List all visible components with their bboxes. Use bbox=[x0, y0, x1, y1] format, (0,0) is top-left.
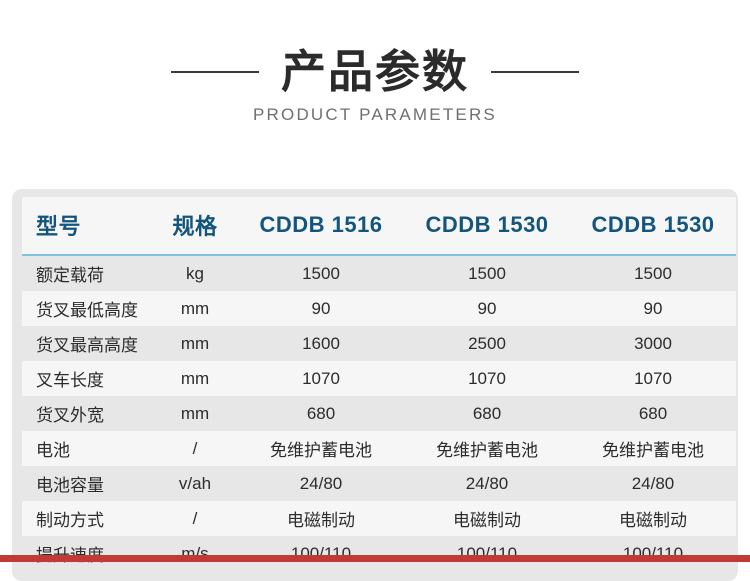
cell-parameter-name: 额定载荷 bbox=[22, 255, 152, 291]
table-body: 额定载荷kg150015001500货叉最低高度mm909090货叉最高高度mm… bbox=[22, 255, 736, 571]
cell-value-model-2: 24/80 bbox=[404, 466, 570, 501]
cell-value-model-2: 2500 bbox=[404, 326, 570, 361]
cell-parameter-name: 提升速度 bbox=[22, 536, 152, 571]
table-row: 额定载荷kg150015001500 bbox=[22, 255, 736, 291]
column-header-model-2: CDDB 1530 bbox=[404, 197, 570, 255]
cell-parameter-name: 电池容量 bbox=[22, 466, 152, 501]
cell-value-model-1: 免维护蓄电池 bbox=[238, 431, 404, 466]
cell-parameter-name: 货叉最低高度 bbox=[22, 291, 152, 326]
title-rule-left bbox=[171, 71, 259, 73]
cell-value-model-3: 3000 bbox=[570, 326, 736, 361]
cell-unit: kg bbox=[152, 255, 238, 291]
table-row: 电池容量v/ah24/8024/8024/80 bbox=[22, 466, 736, 501]
table-head: 型号 规格 CDDB 1516 CDDB 1530 CDDB 1530 bbox=[22, 197, 736, 255]
cell-value-model-2: 电磁制动 bbox=[404, 501, 570, 536]
cell-value-model-1: 电磁制动 bbox=[238, 501, 404, 536]
column-header-name: 型号 bbox=[22, 197, 152, 255]
cell-unit: m/s bbox=[152, 536, 238, 571]
cell-unit: mm bbox=[152, 326, 238, 361]
table-row: 电池/免维护蓄电池免维护蓄电池免维护蓄电池 bbox=[22, 431, 736, 466]
cell-value-model-1: 90 bbox=[238, 291, 404, 326]
page-header: 产品参数 PRODUCT PARAMETERS bbox=[0, 0, 750, 125]
parameters-table-container: 型号 规格 CDDB 1516 CDDB 1530 CDDB 1530 额定载荷… bbox=[12, 189, 738, 581]
cell-parameter-name: 制动方式 bbox=[22, 501, 152, 536]
cell-value-model-1: 1500 bbox=[238, 255, 404, 291]
cell-value-model-3: 24/80 bbox=[570, 466, 736, 501]
cell-value-model-3: 1500 bbox=[570, 255, 736, 291]
table-row: 货叉最高高度mm160025003000 bbox=[22, 326, 736, 361]
parameters-table: 型号 规格 CDDB 1516 CDDB 1530 CDDB 1530 额定载荷… bbox=[22, 197, 736, 571]
cell-unit: mm bbox=[152, 396, 238, 431]
table-row: 制动方式/电磁制动电磁制动电磁制动 bbox=[22, 501, 736, 536]
cell-unit: / bbox=[152, 501, 238, 536]
cell-value-model-2: 1500 bbox=[404, 255, 570, 291]
cell-parameter-name: 货叉外宽 bbox=[22, 396, 152, 431]
cell-value-model-3: 100/110 bbox=[570, 536, 736, 571]
cell-parameter-name: 货叉最高高度 bbox=[22, 326, 152, 361]
table-row: 提升速度m/s100/110100/110100/110 bbox=[22, 536, 736, 571]
cell-value-model-1: 680 bbox=[238, 396, 404, 431]
cell-parameter-name: 叉车长度 bbox=[22, 361, 152, 396]
cell-parameter-name: 电池 bbox=[22, 431, 152, 466]
cell-value-model-2: 1070 bbox=[404, 361, 570, 396]
cell-value-model-1: 1600 bbox=[238, 326, 404, 361]
table-row: 货叉最低高度mm909090 bbox=[22, 291, 736, 326]
column-header-model-3: CDDB 1530 bbox=[570, 197, 736, 255]
cell-value-model-3: 1070 bbox=[570, 361, 736, 396]
cell-value-model-1: 100/110 bbox=[238, 536, 404, 571]
bottom-accent-bar bbox=[0, 555, 750, 562]
cell-unit: / bbox=[152, 431, 238, 466]
cell-value-model-3: 免维护蓄电池 bbox=[570, 431, 736, 466]
cell-value-model-3: 电磁制动 bbox=[570, 501, 736, 536]
cell-value-model-2: 90 bbox=[404, 291, 570, 326]
title-rule-right bbox=[491, 71, 579, 73]
cell-value-model-1: 24/80 bbox=[238, 466, 404, 501]
cell-unit: v/ah bbox=[152, 466, 238, 501]
table-row: 叉车长度mm107010701070 bbox=[22, 361, 736, 396]
cell-unit: mm bbox=[152, 291, 238, 326]
cell-value-model-2: 免维护蓄电池 bbox=[404, 431, 570, 466]
cell-value-model-2: 100/110 bbox=[404, 536, 570, 571]
table-row: 货叉外宽mm680680680 bbox=[22, 396, 736, 431]
column-header-unit: 规格 bbox=[152, 197, 238, 255]
cell-unit: mm bbox=[152, 361, 238, 396]
cell-value-model-2: 680 bbox=[404, 396, 570, 431]
page-title: 产品参数 bbox=[281, 48, 469, 95]
title-row: 产品参数 bbox=[0, 48, 750, 95]
column-header-model-1: CDDB 1516 bbox=[238, 197, 404, 255]
cell-value-model-3: 680 bbox=[570, 396, 736, 431]
page-subtitle: PRODUCT PARAMETERS bbox=[0, 105, 750, 125]
table-header-row: 型号 规格 CDDB 1516 CDDB 1530 CDDB 1530 bbox=[22, 197, 736, 255]
cell-value-model-1: 1070 bbox=[238, 361, 404, 396]
cell-value-model-3: 90 bbox=[570, 291, 736, 326]
